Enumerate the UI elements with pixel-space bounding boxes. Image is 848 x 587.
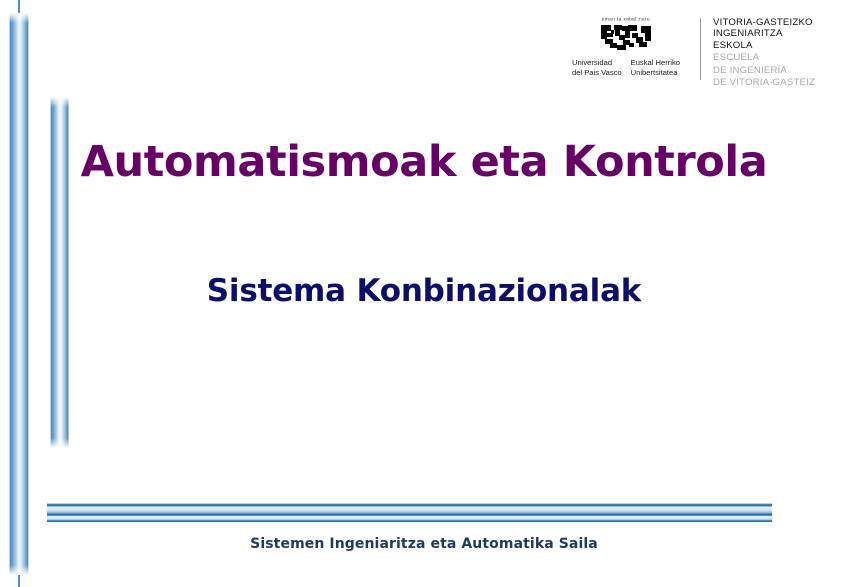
university-names: Universidad del Pais Vasco Euskal Herrik…: [572, 58, 680, 77]
school-name-eu-line3: ESKOLA: [713, 40, 815, 51]
school-name-eu-line2: INGENIARITZA: [713, 28, 815, 39]
footer-horizontal-rule: [47, 503, 772, 522]
upv-ehu-logo: eman ta zabal zazu: [560, 16, 692, 77]
presentation-slide: eman ta zabal zazu: [0, 0, 848, 587]
school-name-es-line1: ESCUELA: [713, 52, 815, 63]
university-name-es-line1: Universidad: [572, 58, 622, 68]
logo-divider: [700, 18, 701, 80]
logo-motto-text: eman ta zabal zazu: [602, 17, 650, 22]
school-name-es-line2: DE INGENIERÍA: [713, 65, 815, 76]
slide-title: Automatismoak eta Kontrola: [0, 137, 848, 187]
institution-logo: eman ta zabal zazu: [560, 16, 838, 90]
upv-ehu-emblem-icon: [599, 23, 653, 53]
school-name-block: VITORIA-GASTEIZKO INGENIARITZA ESKOLA ES…: [713, 16, 815, 88]
slide-subtitle: Sistema Konbinazionalak: [0, 273, 848, 309]
university-name-eu-line1: Euskal Herriko: [631, 58, 680, 68]
university-name-eu-line2: Unibertsitatea: [631, 68, 680, 78]
university-name-es-line2: del Pais Vasco: [572, 68, 622, 78]
school-name-es-line3: DE VITORIA-GASTEIZ: [713, 77, 815, 88]
slide-footer: Sistemen Ingeniaritza eta Automatika Sai…: [0, 536, 848, 552]
school-name-eu-line1: VITORIA-GASTEIZKO: [713, 17, 815, 28]
